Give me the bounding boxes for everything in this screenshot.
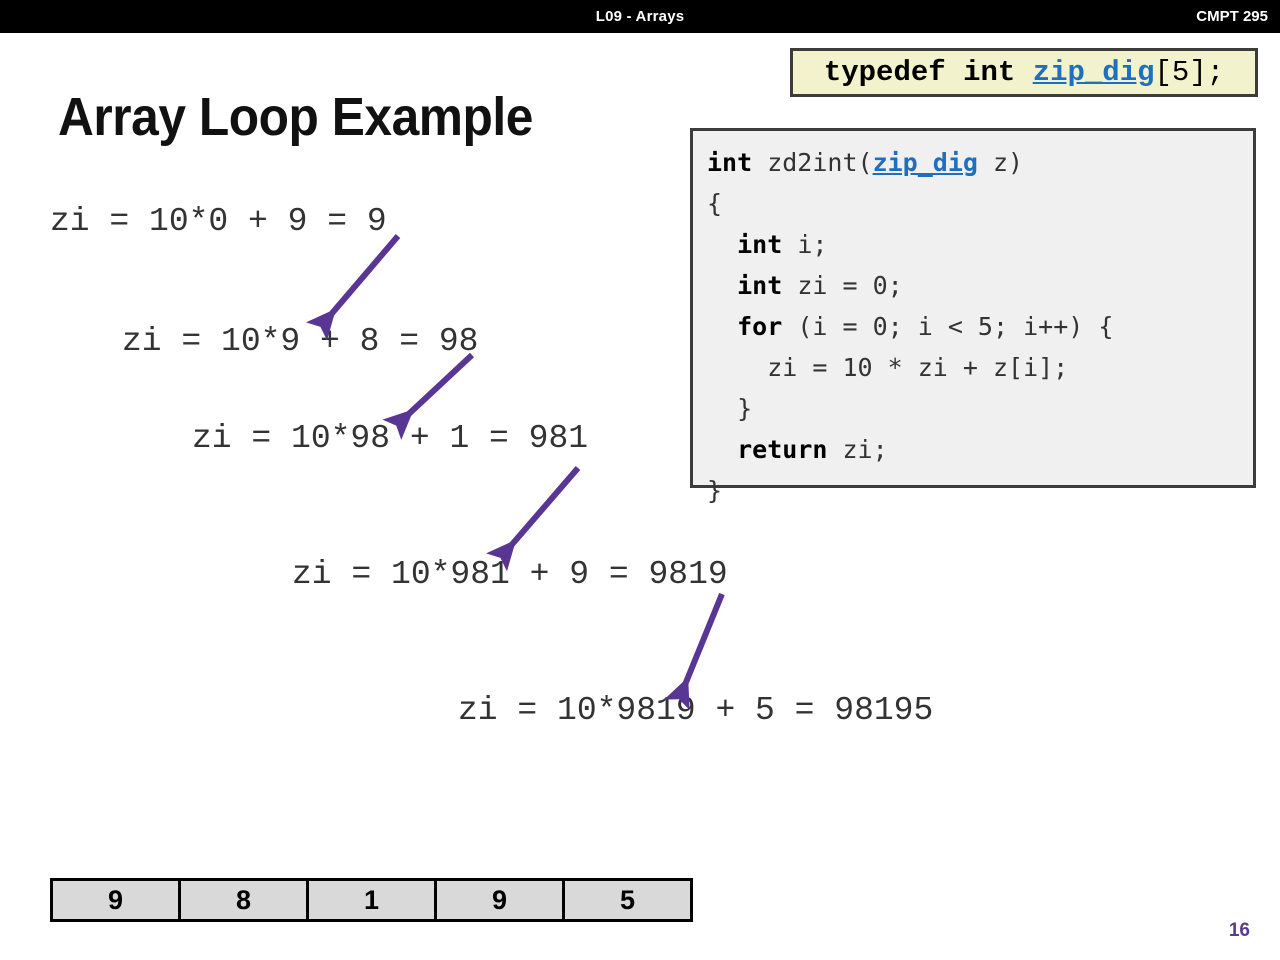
array-cell-4: 5 bbox=[564, 880, 692, 921]
arrow-3 bbox=[502, 468, 578, 556]
array-cell-2: 1 bbox=[308, 880, 436, 921]
arrow-2 bbox=[398, 355, 472, 424]
typedef-callout-box: typedef int zip_dig[5]; bbox=[790, 48, 1258, 97]
typedef-type-name: zip_dig bbox=[1033, 56, 1155, 89]
header-course-code: CMPT 295 bbox=[1196, 0, 1268, 33]
code-snippet-box: int zd2int(zip_dig z) { int i; int zi = … bbox=[690, 128, 1256, 488]
equation-line-2: zi = 10*9 + 8 = 98 bbox=[122, 323, 478, 360]
equation-line-3: zi = 10*98 + 1 = 981 bbox=[192, 420, 588, 457]
arrow-4 bbox=[680, 594, 722, 697]
typedef-keyword: typedef int bbox=[824, 56, 1033, 89]
equation-line-1: zi = 10*0 + 9 = 9 bbox=[50, 203, 387, 240]
array-cell-1: 8 bbox=[180, 880, 308, 921]
page-title: Array Loop Example bbox=[58, 86, 533, 148]
array-cell-0: 9 bbox=[52, 880, 180, 921]
equation-line-5: zi = 10*9819 + 5 = 98195 bbox=[458, 692, 933, 729]
array-cells-table: 9 8 1 9 5 bbox=[50, 878, 693, 922]
table-row: 9 8 1 9 5 bbox=[52, 880, 692, 921]
code-snippet-text: int zd2int(zip_dig z) { int i; int zi = … bbox=[707, 148, 1113, 505]
page-number: 16 bbox=[1229, 920, 1250, 942]
equation-line-4: zi = 10*981 + 9 = 9819 bbox=[292, 556, 728, 593]
typedef-suffix: [5]; bbox=[1155, 56, 1225, 89]
arrow-1 bbox=[322, 236, 398, 325]
header-slide-title: L09 - Arrays bbox=[0, 0, 1280, 33]
array-cell-3: 9 bbox=[436, 880, 564, 921]
